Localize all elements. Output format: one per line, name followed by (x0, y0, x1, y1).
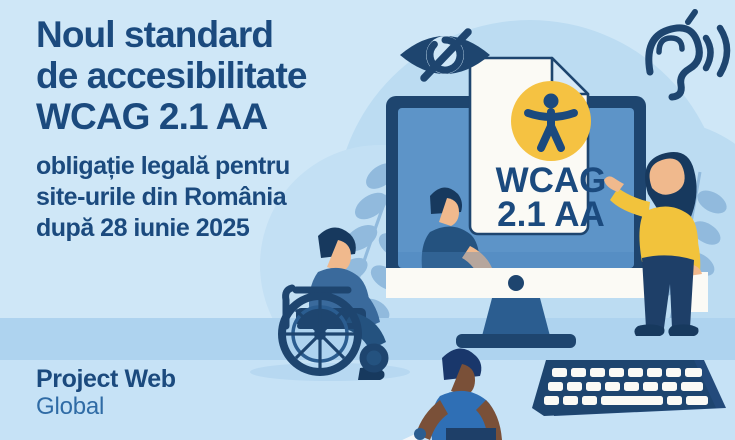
logo-line-1: Project Web (36, 366, 176, 393)
text-block: Noul standard de accesibilitate WCAG 2.1… (36, 14, 396, 244)
poster-canvas: WCAG 2.1 AA (0, 0, 735, 440)
page-title: Noul standard de accesibilitate WCAG 2.1… (36, 14, 396, 137)
monitor-power-dot (508, 275, 524, 291)
page-subtitle: obligație legală pentru site-urile din R… (36, 151, 396, 244)
universal-access-icon (511, 81, 591, 161)
monitor-stand (482, 298, 550, 336)
keyboard (532, 360, 726, 416)
document-line2: 2.1 AA (497, 195, 605, 234)
monitor-base (456, 334, 576, 348)
logo-line-2: Global (36, 393, 176, 420)
brand-logo: Project Web Global (36, 366, 176, 420)
